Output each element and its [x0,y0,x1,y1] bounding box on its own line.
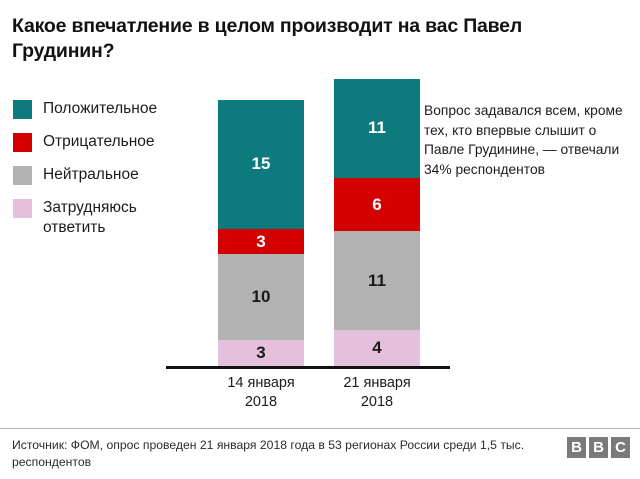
bar-segment[interactable]: 3 [218,229,304,255]
x-axis-line [166,366,450,369]
bbc-logo-letter: B [567,437,586,458]
bbc-logo: BBC [567,437,630,458]
bar-segment-value: 11 [368,271,386,291]
x-axis-label-line: 14 января [196,374,326,393]
x-axis-label-line: 21 января [312,374,442,393]
footer-divider [0,428,640,429]
bar-segment-value: 15 [252,154,271,174]
bar-segment-value: 3 [256,232,265,252]
bar-segment-value: 4 [372,338,381,358]
bar-segment[interactable]: 11 [334,231,420,330]
source-note: Источник: ФОМ, опрос проведен 21 января … [12,437,542,472]
bar-segment-value: 10 [252,287,271,307]
bar-segment[interactable]: 4 [334,330,420,366]
bar-segment[interactable]: 6 [334,178,420,232]
x-axis-label-line: 2018 [196,393,326,412]
x-axis-label: 14 января2018 [196,374,326,412]
bbc-logo-letter: C [611,437,630,458]
chart-plot-area: 15310314 января201811611421 января2018 [0,0,640,410]
chart-annotation-note: Вопрос задавался всем, кроме тех, кто вп… [424,101,634,179]
bar-segment-value: 6 [372,195,381,215]
bar-segment[interactable]: 3 [218,340,304,366]
bar-segment[interactable]: 10 [218,254,304,340]
stacked-bar[interactable]: 153103 [218,100,304,366]
x-axis-label: 21 января2018 [312,374,442,412]
bar-segment[interactable]: 15 [218,100,304,229]
bar-segment-value: 3 [256,343,265,363]
bar-segment-value: 11 [368,118,386,138]
bbc-logo-letter: B [589,437,608,458]
bar-segment[interactable]: 11 [334,79,420,178]
stacked-bar[interactable]: 116114 [334,79,420,366]
x-axis-label-line: 2018 [312,393,442,412]
